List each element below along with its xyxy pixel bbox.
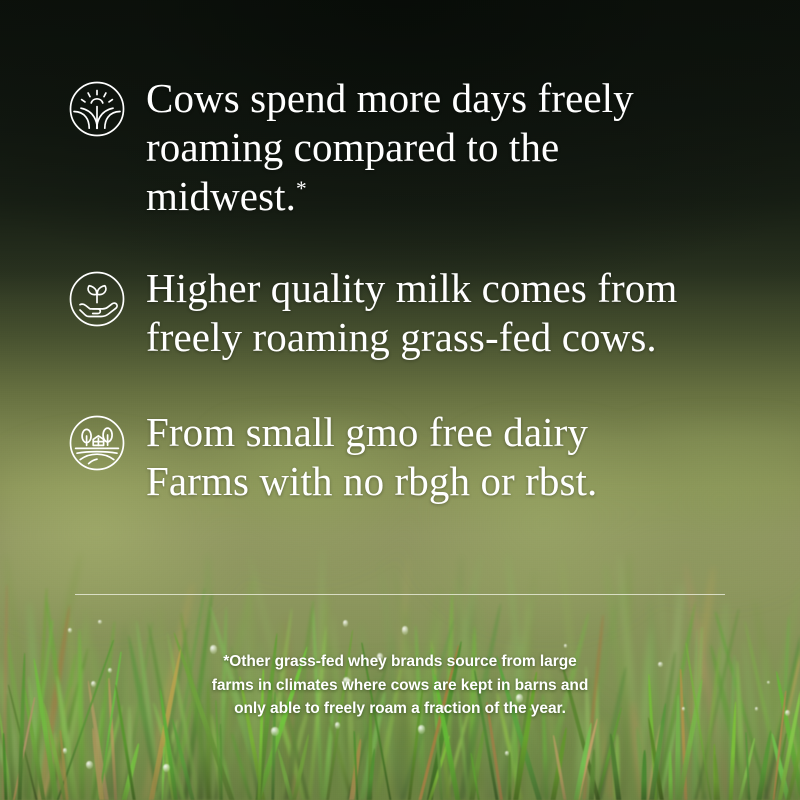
benefit-item-1: Cows spend more days freely roaming comp… xyxy=(68,72,764,222)
footnote-line-3: only able to freely roam a fraction of t… xyxy=(0,697,800,721)
benefit-text-2: Higher quality milk comes from freely ro… xyxy=(146,262,677,362)
sun-over-fields-icon xyxy=(68,80,126,138)
footnote-marker: * xyxy=(296,177,307,201)
footnote-line-2: farms in climates where cows are kept in… xyxy=(0,674,800,698)
benefit-text-1: Cows spend more days freely roaming comp… xyxy=(146,72,634,222)
benefit-text-3: From small gmo free dairy Farms with no … xyxy=(146,406,597,506)
footnote-text: *Other grass-fed whey brands source from… xyxy=(0,650,800,721)
benefit-item-2: Higher quality milk comes from freely ro… xyxy=(68,262,764,362)
benefits-panel: Cows spend more days freely roaming comp… xyxy=(0,0,800,800)
farm-barn-landscape-icon xyxy=(68,414,126,472)
benefit-item-3: From small gmo free dairy Farms with no … xyxy=(68,406,764,506)
footnote-line-1: *Other grass-fed whey brands source from… xyxy=(0,650,800,674)
hand-holding-sprout-icon xyxy=(68,270,126,328)
section-divider xyxy=(75,594,725,595)
panel-content: Cows spend more days freely roaming comp… xyxy=(0,0,800,800)
